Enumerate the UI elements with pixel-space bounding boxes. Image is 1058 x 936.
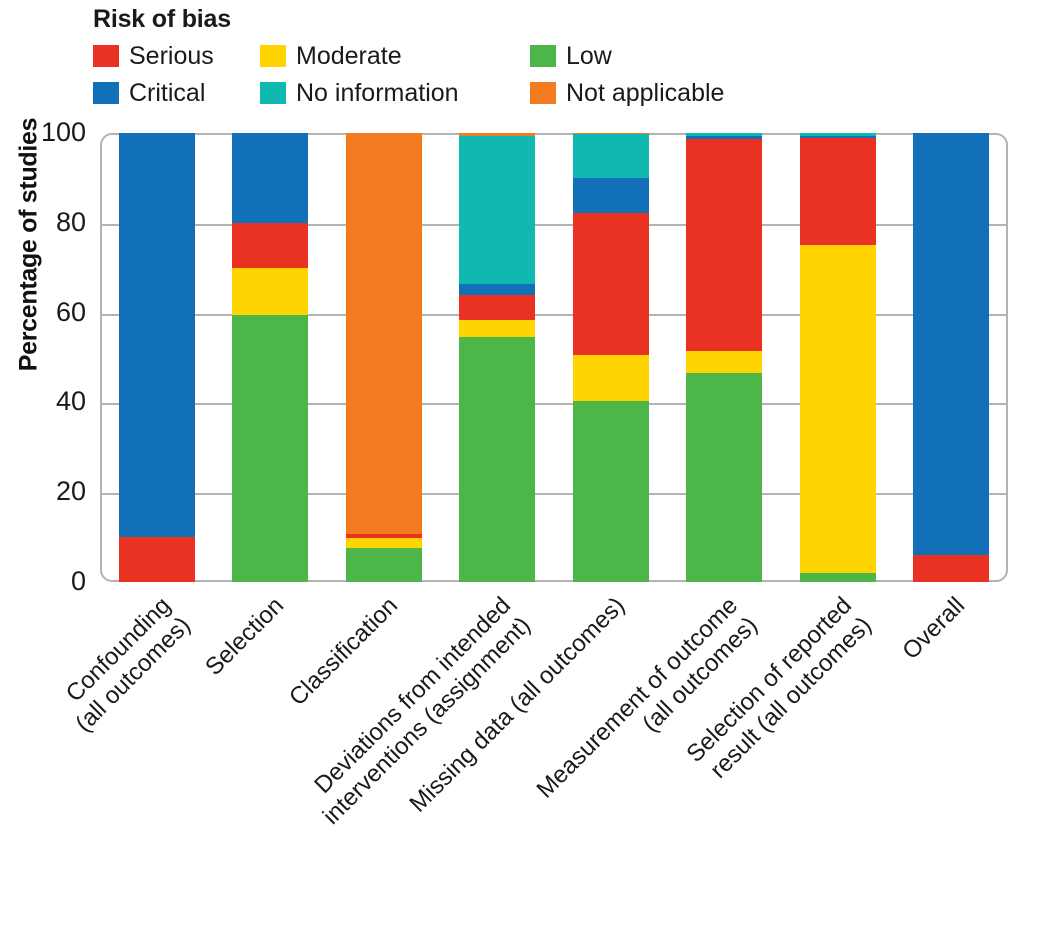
bar-1[interactable] (119, 133, 195, 582)
chart: Percentage of studies 020406080100 Confo… (0, 0, 1058, 889)
bar-6[interactable] (686, 133, 762, 582)
bar-segment-serious[interactable] (686, 139, 762, 351)
bar-segment-serious[interactable] (573, 213, 649, 355)
bar-segment-low[interactable] (232, 315, 308, 582)
bar-segment-moderate[interactable] (232, 268, 308, 315)
bar-segment-low[interactable] (459, 337, 535, 582)
bar-segment-moderate[interactable] (346, 538, 422, 548)
bar-segment-no-information[interactable] (573, 134, 649, 177)
y-tick-label: 100 (0, 119, 86, 146)
bar-segment-low[interactable] (686, 373, 762, 582)
y-tick-label: 0 (0, 568, 86, 595)
bar-3[interactable] (346, 133, 422, 582)
bar-segment-no-information[interactable] (459, 136, 535, 284)
bar-4[interactable] (459, 133, 535, 582)
bar-segment-low[interactable] (573, 401, 649, 582)
y-tick-label: 20 (0, 478, 86, 505)
bar-segment-critical[interactable] (232, 133, 308, 223)
bar-segment-critical[interactable] (459, 284, 535, 295)
y-tick-label: 40 (0, 388, 86, 415)
bar-segment-serious[interactable] (800, 138, 876, 245)
bar-2[interactable] (232, 133, 308, 582)
bar-segment-moderate[interactable] (573, 355, 649, 400)
bar-segment-moderate[interactable] (459, 320, 535, 338)
bar-8[interactable] (913, 133, 989, 582)
bar-7[interactable] (800, 133, 876, 582)
y-tick-label: 60 (0, 299, 86, 326)
bar-segment-not-applicable[interactable] (346, 133, 422, 534)
bar-segment-serious[interactable] (913, 555, 989, 582)
bar-segment-critical[interactable] (573, 178, 649, 213)
bar-segment-critical[interactable] (913, 133, 989, 555)
y-tick-label: 80 (0, 209, 86, 236)
bar-segment-critical[interactable] (119, 133, 195, 537)
bar-segment-serious[interactable] (459, 295, 535, 320)
bar-segment-serious[interactable] (119, 537, 195, 582)
bar-segment-serious[interactable] (232, 223, 308, 268)
bar-segment-moderate[interactable] (686, 351, 762, 373)
bar-segment-low[interactable] (800, 573, 876, 582)
bar-5[interactable] (573, 133, 649, 582)
bar-series-container (100, 133, 1008, 582)
bar-segment-low[interactable] (346, 548, 422, 582)
bar-segment-moderate[interactable] (800, 245, 876, 573)
